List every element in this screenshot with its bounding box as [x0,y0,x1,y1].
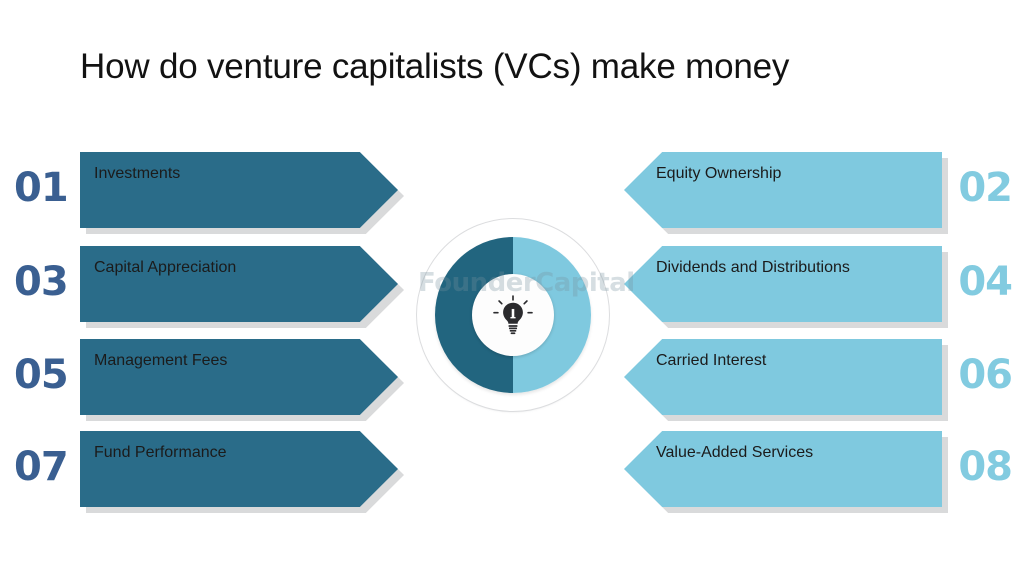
item-number: 06 [958,351,1012,399]
vc-revenue-diagram: 01 Investments 03 Capital Appreciation 0… [0,0,1024,576]
list-item[interactable]: 06 Carried Interest [596,339,1016,415]
item-number: 03 [14,258,68,306]
item-number: 02 [958,164,1012,212]
list-item[interactable]: 02 Equity Ownership [596,152,1016,228]
item-label: Investments [94,162,180,186]
list-item[interactable]: 01 Investments [8,152,428,228]
list-item[interactable]: 03 Capital Appreciation [8,246,428,322]
hub-inner-circle [472,274,554,356]
item-number: 05 [14,351,68,399]
item-number: 01 [14,164,68,212]
center-hub [416,218,610,412]
item-number: 07 [14,443,68,491]
item-label: Value-Added Services [656,441,813,465]
item-label: Equity Ownership [656,162,781,186]
item-label: Capital Appreciation [94,256,236,280]
item-label: Dividends and Distributions [656,256,850,280]
list-item[interactable]: 04 Dividends and Distributions [596,246,1016,322]
list-item[interactable]: 07 Fund Performance [8,431,428,507]
item-number: 08 [958,443,1012,491]
lightbulb-icon [491,293,535,337]
item-label: Fund Performance [94,441,227,465]
item-number: 04 [958,258,1012,306]
list-item[interactable]: 08 Value-Added Services [596,431,1016,507]
item-label: Carried Interest [656,349,766,373]
list-item[interactable]: 05 Management Fees [8,339,428,415]
item-label: Management Fees [94,349,227,373]
